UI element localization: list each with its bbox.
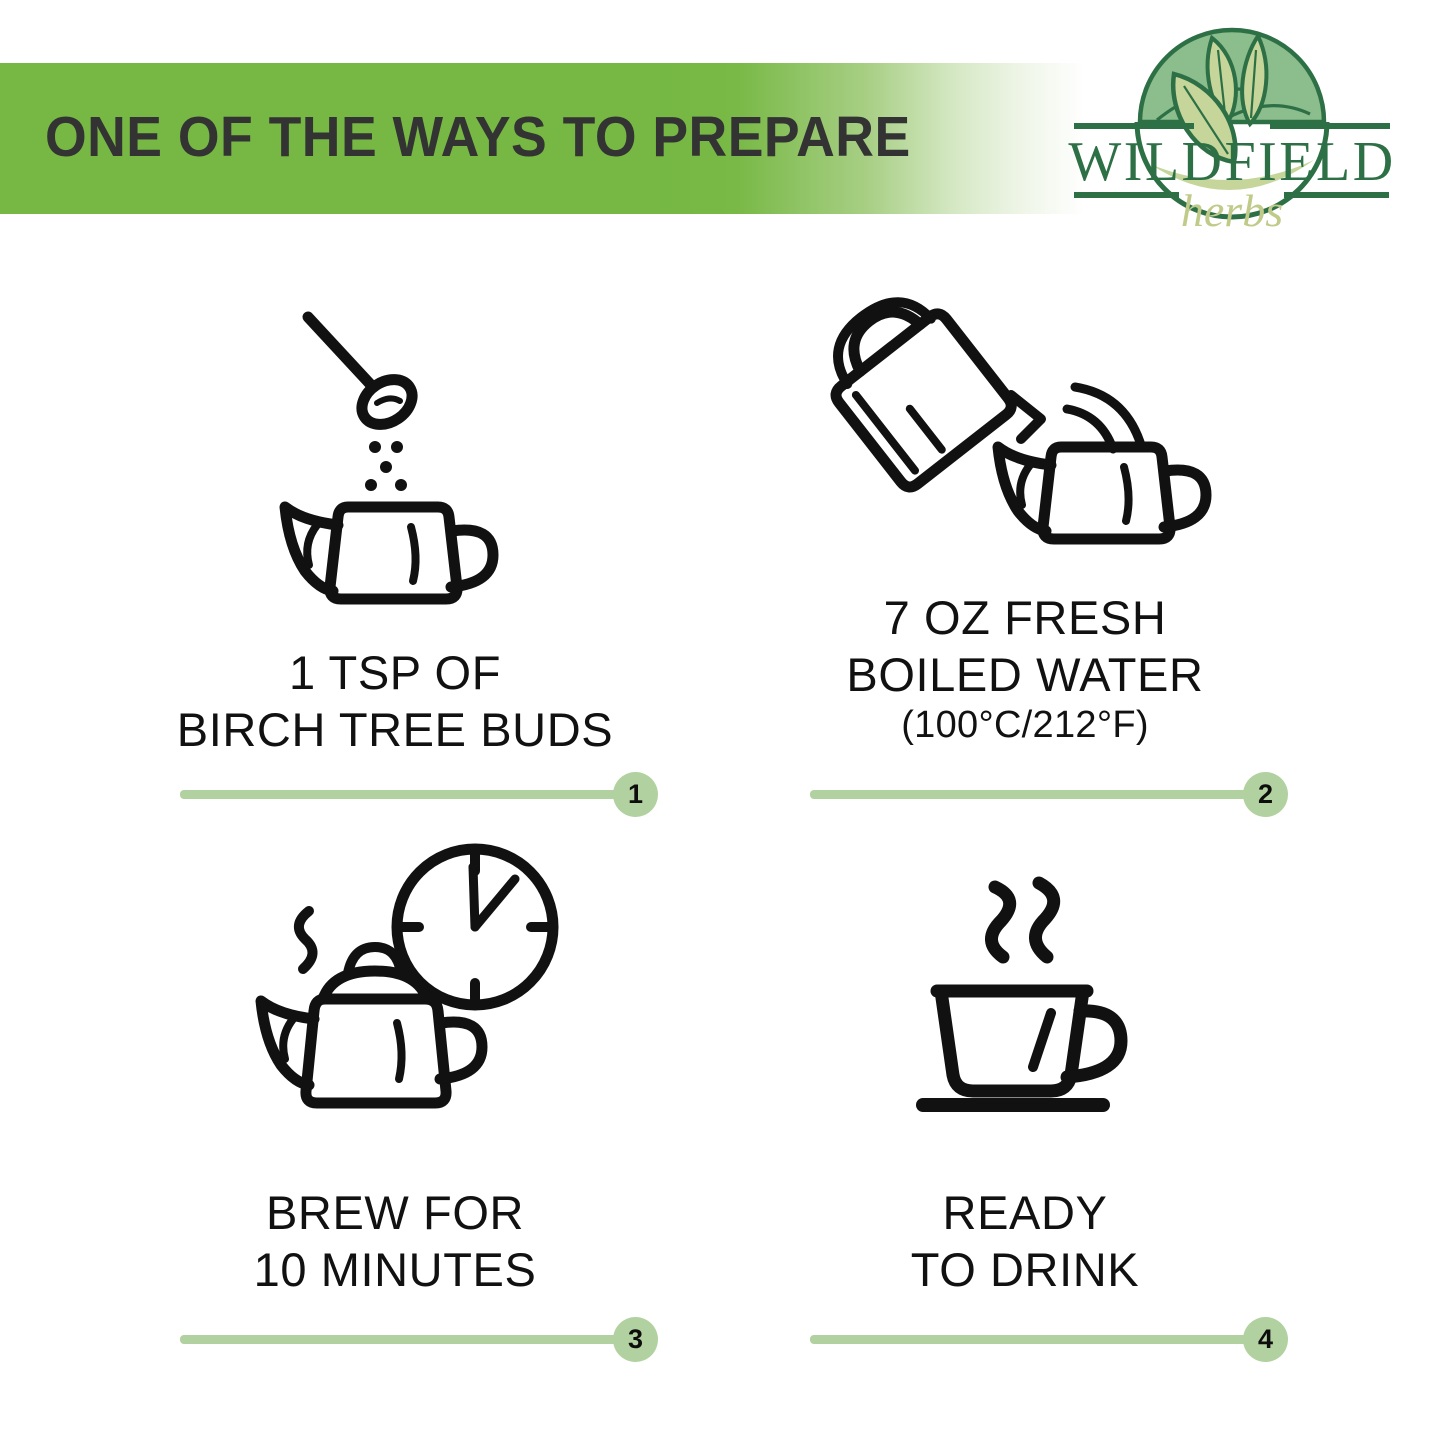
step-2-rule	[810, 790, 1265, 799]
infographic-page: ONE OF THE WAYS TO PREPARE W	[0, 0, 1445, 1445]
step-1-caption: 1 TSP OF BIRCH TREE BUDS	[110, 644, 680, 759]
teapot-with-spoon-icon	[110, 299, 680, 619]
steaming-teapot-with-clock-icon	[110, 839, 680, 1159]
step-4-caption: READY TO DRINK	[740, 1184, 1310, 1299]
step-4: READY TO DRINK 4	[740, 839, 1310, 1419]
step-2-caption-sub: (100°C/212°F)	[740, 703, 1310, 749]
step-1: 1 TSP OF BIRCH TREE BUDS 1	[110, 259, 680, 859]
kettle-pouring-into-teapot-icon	[740, 269, 1310, 589]
page-title: ONE OF THE WAYS TO PREPARE	[45, 104, 911, 170]
step-2: 7 OZ FRESH BOILED WATER (100°C/212°F) 2	[740, 259, 1310, 859]
brand-logo: WILDFIELD herbs	[1062, 2, 1402, 244]
step-2-caption: 7 OZ FRESH BOILED WATER	[740, 589, 1310, 704]
step-3-caption: BREW FOR 10 MINUTES	[110, 1184, 680, 1299]
logo-artwork: WILDFIELD herbs	[1062, 2, 1402, 244]
step-3-rule	[180, 1335, 635, 1344]
logo-wordmark: WILDFIELD	[1068, 131, 1395, 193]
steaming-cup-icon	[740, 869, 1310, 1159]
step-1-rule	[180, 790, 635, 799]
step-4-number-badge: 4	[1243, 1317, 1288, 1362]
step-1-number-badge: 1	[613, 772, 658, 817]
steps-grid: 1 TSP OF BIRCH TREE BUDS 1	[0, 214, 1445, 1445]
step-3-number-badge: 3	[613, 1317, 658, 1362]
step-4-rule	[810, 1335, 1265, 1344]
step-2-number-badge: 2	[1243, 772, 1288, 817]
step-3: BREW FOR 10 MINUTES 3	[110, 839, 680, 1419]
